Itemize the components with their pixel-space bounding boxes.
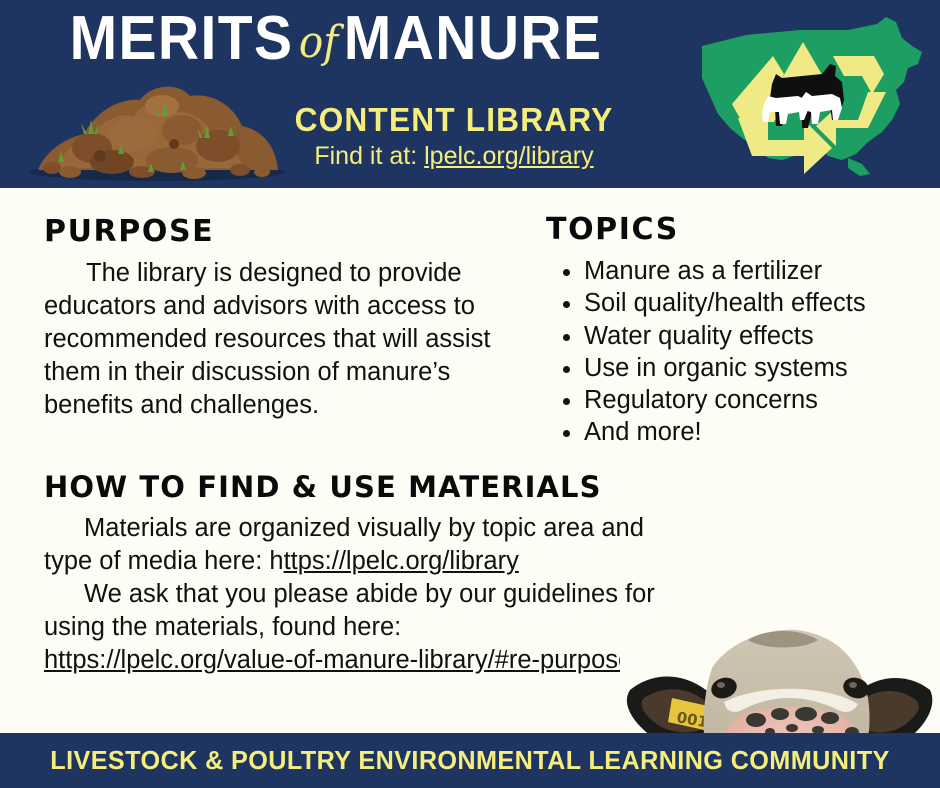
how-to-paragraph-3: https://lpelc.org/value-of-manure-librar… <box>44 644 664 677</box>
how-to-heading: HOW TO FIND & USE MATERIALS <box>44 470 664 504</box>
header-banner: MERITSofMANURE CONTENT LIBRARY Find it a… <box>0 0 940 188</box>
footer-banner: LIVESTOCK & POULTRY ENVIRONMENTAL LEARNI… <box>0 733 940 788</box>
how-to-section: HOW TO FIND & USE MATERIALS Materials ar… <box>44 470 664 676</box>
title-of: of <box>293 17 343 68</box>
title-block: MERITSofMANURE CONTENT LIBRARY Find it a… <box>0 0 672 188</box>
guidelines-url-link[interactable]: https://lpelc.org/value-of-manure-librar… <box>44 646 632 674</box>
library-url-link-inline[interactable]: ttps://lpelc.org/library <box>284 547 519 575</box>
topics-list: Manure as a fertilizer Soil quality/heal… <box>546 255 926 449</box>
how-to-paragraph-1: Materials are organized visually by topi… <box>44 512 664 578</box>
title-part-2: MANURE <box>344 4 603 73</box>
topics-section: TOPICS Manure as a fertilizer Soil quali… <box>546 212 926 449</box>
purpose-body: The library is designed to provide educa… <box>44 257 514 421</box>
body-area: PURPOSE The library is designed to provi… <box>0 188 940 733</box>
library-url-link[interactable]: lpelc.org/library <box>424 142 594 170</box>
subtitle: CONTENT LIBRARY <box>245 101 664 139</box>
footer-text: LIVESTOCK & POULTRY ENVIRONMENTAL LEARNI… <box>14 733 926 788</box>
poster: MERITSofMANURE CONTENT LIBRARY Find it a… <box>0 0 940 788</box>
lpelc-logo <box>672 8 934 183</box>
purpose-section: PURPOSE The library is designed to provi… <box>44 214 514 421</box>
list-item: And more! <box>584 416 926 448</box>
list-item: Use in organic systems <box>584 352 926 384</box>
how-to-p2-text: We ask that you please abide by our guid… <box>44 580 655 641</box>
how-to-paragraph-2: We ask that you please abide by our guid… <box>44 578 664 644</box>
topics-heading: TOPICS <box>546 212 926 247</box>
page-title: MERITSofMANURE <box>27 6 645 71</box>
list-item: Manure as a fertilizer <box>584 255 926 287</box>
title-part-1: MERITS <box>70 4 294 73</box>
purpose-heading: PURPOSE <box>44 214 514 249</box>
list-item: Regulatory concerns <box>584 384 926 416</box>
find-it-line: Find it at: lpelc.org/library <box>236 142 672 171</box>
list-item: Soil quality/health effects <box>584 287 926 319</box>
list-item: Water quality effects <box>584 320 926 352</box>
find-it-prefix: Find it at: <box>314 142 417 170</box>
